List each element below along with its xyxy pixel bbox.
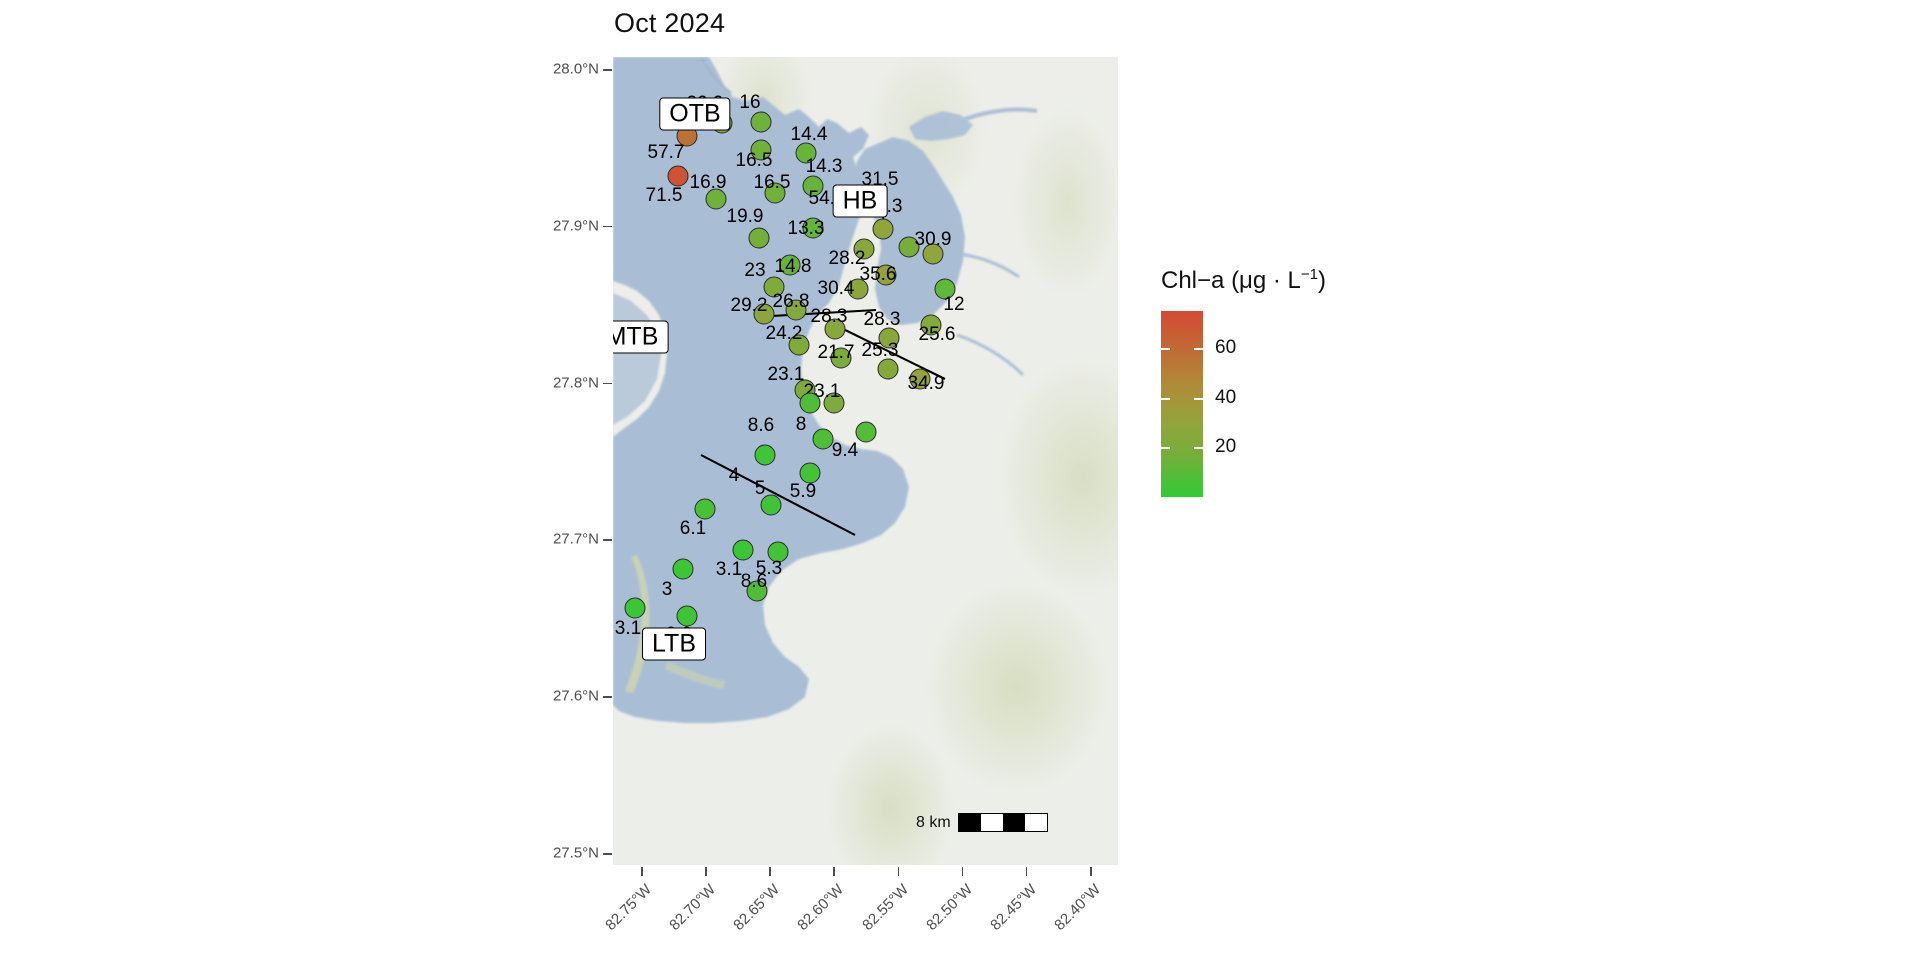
station-value-label: 5.9 bbox=[790, 481, 816, 503]
station-value-label: 25.3 bbox=[862, 340, 899, 362]
y-axis-tick-label: 28.0°N bbox=[553, 61, 599, 78]
station-value-label: 71.5 bbox=[646, 185, 683, 207]
scale-bar-segment bbox=[981, 814, 1003, 831]
station-value-label: 16.5 bbox=[754, 172, 791, 194]
figure-root: Oct 2024 28.0°N27.9°N27.8°N27.7°N27.6°N2… bbox=[0, 0, 1920, 960]
legend-title-units-close: ) bbox=[1318, 267, 1326, 294]
station-value-label: 34.9 bbox=[908, 373, 945, 395]
legend-tick-mark bbox=[1194, 398, 1203, 400]
scale-bar-segment bbox=[959, 814, 981, 831]
station-value-label: 9.4 bbox=[832, 440, 858, 462]
station-value-label: 23.1 bbox=[768, 364, 805, 386]
station-value-label: 19.9 bbox=[727, 206, 764, 228]
y-axis-tick-mark bbox=[603, 696, 612, 698]
scale-bar-label: 8 km bbox=[916, 814, 951, 832]
legend-title-dash: − bbox=[1197, 267, 1211, 294]
legend-tick-mark bbox=[1161, 398, 1170, 400]
station-point[interactable] bbox=[695, 499, 716, 520]
station-point[interactable] bbox=[800, 393, 821, 414]
station-point[interactable] bbox=[856, 422, 877, 443]
segment-label-hb: HB bbox=[833, 185, 888, 218]
legend-tick-mark bbox=[1194, 447, 1203, 449]
station-point[interactable] bbox=[733, 540, 754, 561]
station-value-label: 3.1 bbox=[615, 618, 641, 640]
y-axis-tick-label: 27.6°N bbox=[553, 688, 599, 705]
map-panel[interactable]: 20.91657.714.416.571.514.316.916.519.913… bbox=[613, 57, 1118, 865]
station-value-label: 8.6 bbox=[741, 571, 767, 593]
x-axis-tick-label: 82.65°W bbox=[709, 881, 783, 955]
y-axis-tick-label: 27.9°N bbox=[553, 217, 599, 234]
figure-title: Oct 2024 bbox=[614, 8, 725, 39]
station-value-label: 16.9 bbox=[690, 172, 727, 194]
station-value-label: 23 bbox=[744, 260, 765, 282]
scale-bar-segment bbox=[1025, 814, 1047, 831]
station-value-label: 29.2 bbox=[731, 295, 768, 317]
x-axis-tick-mark bbox=[898, 867, 900, 876]
station-value-label: 14.4 bbox=[791, 124, 828, 146]
station-value-label: 57.7 bbox=[648, 142, 685, 164]
x-axis-tick-mark bbox=[1026, 867, 1028, 876]
station-value-label: 6.1 bbox=[680, 518, 706, 540]
y-axis-tick-mark bbox=[603, 539, 612, 541]
station-value-label: 14.8 bbox=[775, 256, 812, 278]
station-value-label: 5 bbox=[755, 478, 766, 500]
station-point[interactable] bbox=[873, 219, 894, 240]
segment-label-ltb: LTB bbox=[642, 628, 706, 661]
station-value-label: 12 bbox=[943, 294, 964, 316]
y-axis-tick-mark bbox=[603, 383, 612, 385]
station-value-label: 28.3 bbox=[864, 309, 901, 331]
x-axis-tick-mark bbox=[769, 867, 771, 876]
station-value-label: 30.9 bbox=[915, 229, 952, 251]
station-point[interactable] bbox=[668, 166, 689, 187]
y-axis-tick-mark bbox=[603, 69, 612, 71]
station-point[interactable] bbox=[673, 559, 694, 580]
legend-tick-mark bbox=[1161, 447, 1170, 449]
x-axis-tick-label: 82.50°W bbox=[901, 881, 975, 955]
scale-bar-segments bbox=[958, 813, 1048, 832]
station-point[interactable] bbox=[749, 228, 770, 249]
scale-bar: 8 km bbox=[916, 813, 1048, 832]
legend-title-chl: Chl bbox=[1161, 267, 1197, 294]
x-axis-tick-mark bbox=[833, 867, 835, 876]
station-value-label: 4 bbox=[729, 465, 740, 487]
x-axis-tick-mark bbox=[641, 867, 643, 876]
y-axis-tick-label: 27.8°N bbox=[553, 374, 599, 391]
x-axis-tick-mark bbox=[705, 867, 707, 876]
x-axis-tick-label: 82.70°W bbox=[645, 881, 719, 955]
station-value-label: 3 bbox=[662, 579, 673, 601]
legend-title-a: a bbox=[1211, 267, 1224, 294]
station-value-label: 30.4 bbox=[818, 278, 855, 300]
y-axis-tick-mark bbox=[603, 226, 612, 228]
x-axis-tick-label: 82.60°W bbox=[773, 881, 847, 955]
scale-bar-segment bbox=[1003, 814, 1025, 831]
station-value-label: 24.2 bbox=[766, 323, 803, 345]
station-point[interactable] bbox=[625, 598, 646, 619]
station-value-label: 16 bbox=[739, 92, 760, 114]
station-value-label: 3.1 bbox=[716, 559, 742, 581]
y-axis-tick-label: 27.7°N bbox=[553, 531, 599, 548]
x-axis-tick-label: 82.45°W bbox=[966, 881, 1040, 955]
legend-tick-mark bbox=[1161, 348, 1170, 350]
station-value-label: 26.8 bbox=[773, 291, 810, 313]
segment-label-otb: OTB bbox=[659, 98, 730, 131]
segment-label-mtb: MTB bbox=[613, 321, 668, 354]
station-value-label: 25.6 bbox=[919, 324, 956, 346]
station-value-label: 16.5 bbox=[736, 150, 773, 172]
station-value-label: 28.3 bbox=[811, 306, 848, 328]
x-axis-tick-label: 82.75°W bbox=[581, 881, 655, 955]
x-axis-tick-label: 82.40°W bbox=[1030, 881, 1104, 955]
y-axis-tick-mark bbox=[603, 853, 612, 855]
y-axis-tick-label: 27.5°N bbox=[553, 845, 599, 862]
station-value-label: 8.6 bbox=[748, 415, 774, 437]
legend-title-exponent: −1 bbox=[1301, 266, 1318, 283]
station-value-label: 13.3 bbox=[788, 218, 825, 240]
station-point[interactable] bbox=[813, 429, 834, 450]
station-value-label: 14.3 bbox=[806, 156, 843, 178]
station-value-label: 8 bbox=[796, 414, 807, 436]
station-point[interactable] bbox=[751, 112, 772, 133]
station-value-label: 21.7 bbox=[818, 342, 855, 364]
legend-colorbar[interactable] bbox=[1161, 311, 1203, 497]
legend-tick-label: 40 bbox=[1215, 387, 1236, 409]
station-point[interactable] bbox=[755, 445, 776, 466]
x-axis-tick-mark bbox=[962, 867, 964, 876]
x-axis-tick-label: 82.55°W bbox=[837, 881, 911, 955]
legend-tick-label: 60 bbox=[1215, 337, 1236, 359]
legend-tick-mark bbox=[1194, 348, 1203, 350]
legend-tick-label: 20 bbox=[1215, 436, 1236, 458]
x-axis-tick-mark bbox=[1090, 867, 1092, 876]
legend-title: Chl−a (μg · L−1) bbox=[1161, 266, 1326, 295]
legend-title-units-open: (μg · L bbox=[1231, 267, 1301, 294]
